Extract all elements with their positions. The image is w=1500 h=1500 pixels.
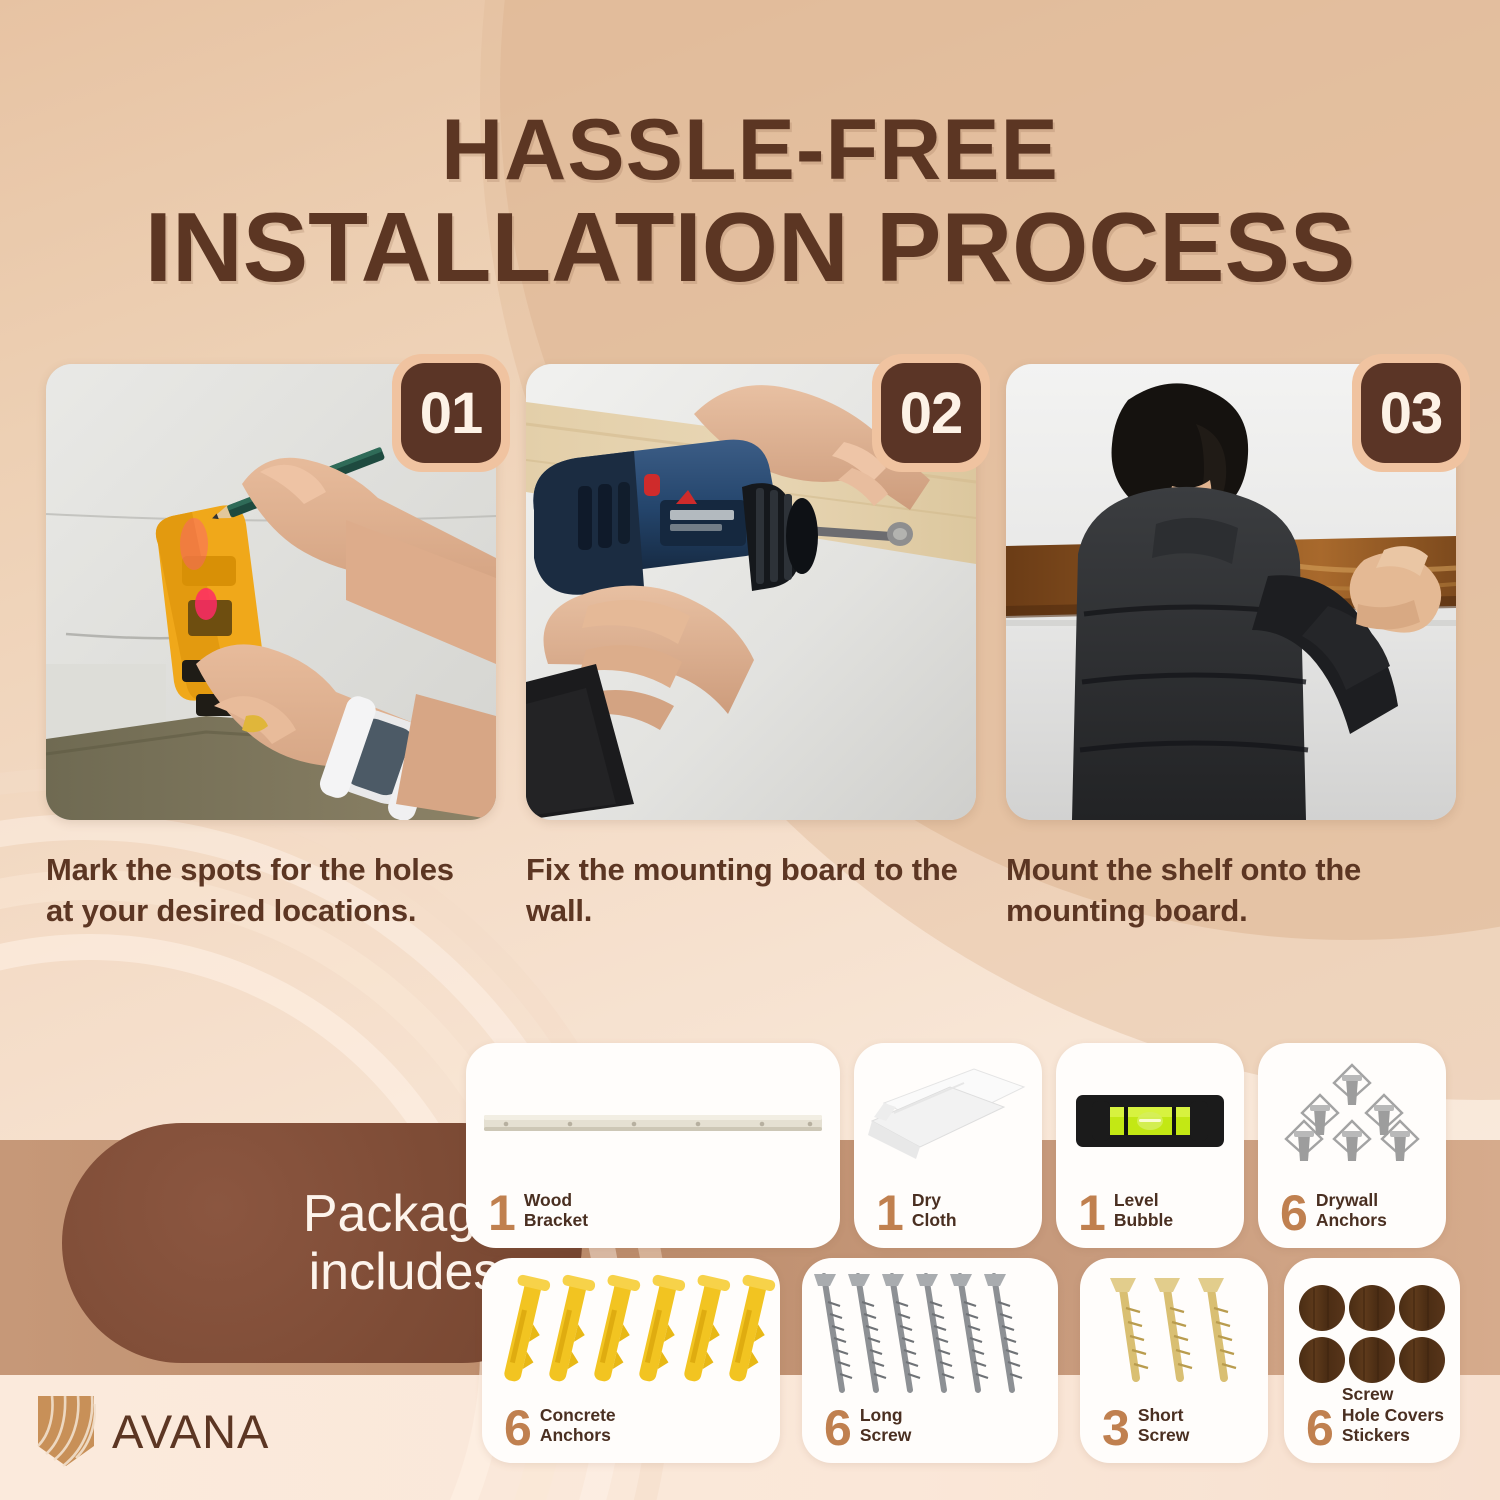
dry-cloth-icon: [854, 1051, 1042, 1186]
wood-bracket-icon: [466, 1051, 840, 1186]
infographic-poster: HASSLE-FREE INSTALLATION PROCESS: [0, 0, 1500, 1500]
step-card-3: 03 Mount the shelf onto the mounting boa…: [1006, 364, 1456, 963]
package-item-concrete-anchors[interactable]: 6 ConcreteAnchors: [482, 1258, 780, 1463]
package-item-drywall-anchors[interactable]: 6 DrywallAnchors: [1258, 1043, 1446, 1248]
short-screw-label: ShortScrew: [1138, 1405, 1190, 1449]
concrete-anchors-icon: [482, 1266, 780, 1401]
concrete-anchors-qty: 6: [504, 1408, 532, 1449]
step-number-1: 01: [401, 363, 501, 463]
short-screw-icon: [1080, 1266, 1268, 1401]
level-bubble-qty: 1: [1078, 1193, 1106, 1234]
concrete-anchors-label: ConcreteAnchors: [540, 1405, 616, 1449]
page-title: HASSLE-FREE INSTALLATION PROCESS: [0, 109, 1500, 294]
installation-steps: 01 Mark the spots for the holes at your …: [46, 364, 1456, 984]
package-item-short-screw[interactable]: 3 ShortScrew: [1080, 1258, 1268, 1463]
page-title-line-2: INSTALLATION PROCESS: [0, 200, 1500, 294]
step-badge-3: 03: [1352, 354, 1470, 472]
step-badge-1: 01: [392, 354, 510, 472]
wood-grain-shield-icon: [36, 1394, 96, 1468]
package-item-wood-bracket[interactable]: 1 WoodBracket: [466, 1043, 840, 1248]
package-item-screw-hole-covers[interactable]: 6 ScrewHole CoversStickers: [1284, 1258, 1460, 1463]
screw-hole-covers-icon: [1284, 1266, 1460, 1401]
drywall-anchors-icon: [1258, 1051, 1446, 1186]
step-card-1: 01 Mark the spots for the holes at your …: [46, 364, 496, 963]
wood-bracket-label: WoodBracket: [524, 1190, 588, 1234]
level-bubble-label: LevelBubble: [1114, 1190, 1173, 1234]
brand-logo: AVANA: [36, 1394, 269, 1468]
package-item-long-screw[interactable]: 6 LongScrew: [802, 1258, 1058, 1463]
step-caption-1: Mark the spots for the holes at your des…: [46, 850, 486, 932]
screw-hole-covers-qty: 6: [1306, 1408, 1334, 1449]
long-screw-qty: 6: [824, 1408, 852, 1449]
step-caption-2: Fix the mounting board to the wall.: [526, 850, 966, 932]
step-number-2: 02: [881, 363, 981, 463]
step-number-3: 03: [1361, 363, 1461, 463]
drywall-anchors-label: DrywallAnchors: [1316, 1190, 1387, 1234]
package-item-level-bubble[interactable]: 1 LevelBubble: [1056, 1043, 1244, 1248]
step-card-2: 02 Fix the mounting board to the wall.: [526, 364, 976, 963]
page-title-line-1: HASSLE-FREE: [0, 109, 1500, 192]
short-screw-qty: 3: [1102, 1408, 1130, 1449]
long-screw-label: LongScrew: [860, 1405, 912, 1449]
level-bubble-icon: [1056, 1051, 1244, 1186]
step-caption-3: Mount the shelf onto the mounting board.: [1006, 850, 1446, 932]
package-items-grid: 1 WoodBracket: [466, 1043, 1476, 1463]
drywall-anchors-qty: 6: [1280, 1193, 1308, 1234]
package-item-dry-cloth[interactable]: 1 DryCloth: [854, 1043, 1042, 1248]
screw-hole-covers-label: ScrewHole CoversStickers: [1342, 1384, 1444, 1449]
dry-cloth-qty: 1: [876, 1193, 904, 1234]
dry-cloth-label: DryCloth: [912, 1190, 957, 1234]
wood-bracket-qty: 1: [488, 1193, 516, 1234]
brand-name: AVANA: [112, 1404, 269, 1459]
long-screw-icon: [802, 1266, 1058, 1401]
step-badge-2: 02: [872, 354, 990, 472]
